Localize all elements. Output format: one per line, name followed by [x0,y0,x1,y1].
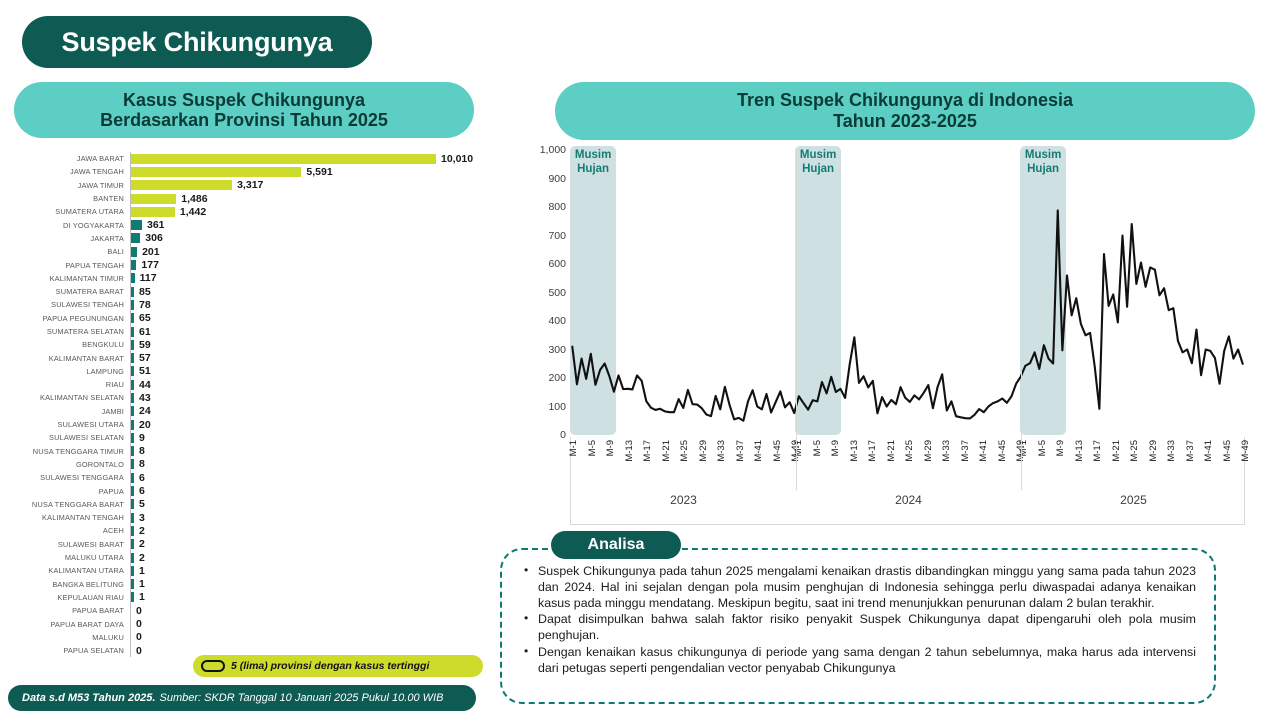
year-separator [796,150,797,490]
y-axis-tick-label: 500 [520,287,566,299]
y-axis-tick-label: 200 [520,372,566,384]
bar-category-label: SUMATERA BARAT [0,287,130,296]
bar-category-label: PAPUA PEGUNUNGAN [0,314,130,323]
bar-value-label: 0 [136,605,142,617]
x-axis-tick-label: M-33 [1166,440,1177,462]
x-axis: M-1M-5M-9M-13M-17M-21M-25M-29M-33M-37M-4… [570,437,1245,525]
bar-track: 51 [130,365,500,378]
bar-track: 6 [130,471,500,484]
bar-fill [131,207,175,217]
bar-row: NUSA TENGGARA BARAT5 [0,498,500,511]
bar-fill [131,433,134,443]
trend-chart-title-line1: Tren Suspek Chikungunya di Indonesia [737,90,1073,111]
bar-value-label: 6 [139,485,145,497]
bar-fill [131,486,134,496]
trend-chart-title-line2: Tahun 2023-2025 [833,111,977,132]
bar-fill [131,233,140,243]
bar-row: SULAWESI BARAT2 [0,538,500,551]
bar-row: SUMATERA BARAT85 [0,285,500,298]
bar-row: SULAWESI TENGGARA6 [0,471,500,484]
bar-category-label: RIAU [0,380,130,389]
bar-category-label: KALIMANTAN TENGAH [0,513,130,522]
bar-fill [131,154,436,164]
x-axis-tick-label: M-5 [1037,440,1048,456]
y-axis-tick-label: 400 [520,315,566,327]
bar-category-label: PAPUA TENGAH [0,261,130,270]
bar-category-label: JAWA TIMUR [0,181,130,190]
bar-value-label: 5,591 [306,166,332,178]
bar-value-label: 2 [139,525,145,537]
bar-track: 306 [130,232,500,245]
x-axis-tick-label: M-33 [716,440,727,462]
bar-category-label: KEPULAUAN RIAU [0,593,130,602]
bar-value-label: 43 [139,392,151,404]
bar-category-label: BANGKA BELITUNG [0,580,130,589]
bar-category-label: NUSA TENGGARA BARAT [0,500,130,509]
bar-category-label: PAPUA [0,487,130,496]
legend-swatch-icon [201,660,225,672]
bar-fill [131,247,137,257]
bar-row: ACEH2 [0,524,500,537]
bar-track: 57 [130,351,500,364]
bar-track: 65 [130,312,500,325]
bar-value-label: 306 [145,232,163,244]
bar-track: 2 [130,524,500,537]
dashboard-page: Suspek Chikungunya Kasus Suspek Chikungu… [0,0,1280,720]
bar-track: 9 [130,431,500,444]
x-axis-tick-label: M-41 [978,440,989,462]
bar-row: GORONTALO8 [0,458,500,471]
y-axis-tick-label: 800 [520,201,566,213]
x-axis-tick-label: M-13 [624,440,635,462]
bar-value-label: 5 [139,498,145,510]
bar-value-label: 1 [139,565,145,577]
bar-track: 177 [130,258,500,271]
x-axis-tick-label: M-37 [1185,440,1196,462]
bar-chart-title: Kasus Suspek Chikungunya Berdasarkan Pro… [14,82,474,138]
x-axis-tick-label: M-41 [1203,440,1214,462]
bar-category-label: PAPUA BARAT DAYA [0,620,130,629]
bar-value-label: 1,442 [180,206,206,218]
bar-category-label: KALIMANTAN UTARA [0,566,130,575]
x-axis-tick-label: M-25 [679,440,690,462]
x-axis-tick-label: M-17 [642,440,653,462]
bar-value-label: 6 [139,472,145,484]
x-axis-tick-label: M-33 [941,440,952,462]
bar-row: PAPUA BARAT0 [0,604,500,617]
page-title-text: Suspek Chikungunya [62,27,333,58]
y-axis-tick-label: 900 [520,173,566,185]
x-axis-tick-label: M-49 [1240,440,1251,462]
bar-track: 8 [130,458,500,471]
x-axis-tick-label: M-21 [661,440,672,462]
bar-category-label: BANTEN [0,194,130,203]
bar-value-label: 9 [139,432,145,444]
bar-track: 8 [130,445,500,458]
bar-track: 78 [130,298,500,311]
bar-category-label: JAKARTA [0,234,130,243]
bar-category-label: LAMPUNG [0,367,130,376]
bar-row: KALIMANTAN UTARA1 [0,564,500,577]
province-bar-panel: Kasus Suspek Chikungunya Berdasarkan Pro… [0,82,500,662]
bar-row: KALIMANTAN TENGAH3 [0,511,500,524]
bar-fill [131,499,134,509]
y-axis-tick-label: 1,000 [520,144,566,156]
x-axis-tick-label: M-21 [1111,440,1122,462]
bar-fill [131,420,134,430]
bar-row: BANTEN1,486 [0,192,500,205]
bar-fill [131,313,134,323]
bar-category-label: JAWA TENGAH [0,167,130,176]
x-axis-tick-label: M-17 [867,440,878,462]
x-axis-year-label: 2025 [1021,493,1246,507]
trend-chart-title: Tren Suspek Chikungunya di Indonesia Tah… [555,82,1255,140]
bar-fill [131,287,134,297]
bar-value-label: 85 [139,286,151,298]
bar-category-label: JAWA BARAT [0,154,130,163]
analysis-list: Suspek Chikungunya pada tahun 2025 menga… [520,564,1196,676]
bar-row: JAWA BARAT10,010 [0,152,500,165]
bar-value-label: 2 [139,538,145,550]
bar-track: 361 [130,218,500,231]
bar-row: SUMATERA UTARA1,442 [0,205,500,218]
bar-track: 1,442 [130,205,500,218]
bar-row: SULAWESI UTARA20 [0,418,500,431]
bar-fill [131,553,134,563]
analysis-label-text: Analisa [588,536,645,554]
bar-track: 59 [130,338,500,351]
bar-fill [131,513,134,523]
bar-track: 20 [130,418,500,431]
analysis-bullet: Dapat disimpulkan bahwa salah faktor ris… [538,612,1196,644]
line-chart-plot-area: MusimHujanMusimHujanMusimHujan [570,150,1245,435]
x-axis-tick-label: M-13 [849,440,860,462]
bar-fill [131,194,176,204]
bar-chart-legend: 5 (lima) provinsi dengan kasus tertinggi [193,655,483,677]
bar-category-label: MALUKU [0,633,130,642]
bar-track: 3,317 [130,179,500,192]
bar-category-label: KALIMANTAN SELATAN [0,393,130,402]
bar-fill [131,592,134,602]
x-axis-tick-label: M-37 [735,440,746,462]
trend-line-series [570,150,1245,435]
bar-category-label: SUMATERA SELATAN [0,327,130,336]
bar-track: 1 [130,578,500,591]
bar-chart-title-line2: Berdasarkan Provinsi Tahun 2025 [100,110,388,130]
bar-value-label: 201 [142,246,160,258]
bar-value-label: 1 [139,578,145,590]
bar-track: 85 [130,285,500,298]
bar-track: 5 [130,498,500,511]
bar-value-label: 61 [139,326,151,338]
x-axis-tick-label: M-13 [1074,440,1085,462]
bar-category-label: SULAWESI UTARA [0,420,130,429]
bar-track: 3 [130,511,500,524]
bar-row: KALIMANTAN BARAT57 [0,351,500,364]
x-axis-tick-label: M-45 [772,440,783,462]
bar-row: KALIMANTAN SELATAN43 [0,391,500,404]
bar-fill [131,473,134,483]
analysis-label-pill: Analisa [551,531,681,559]
legend-label: 5 (lima) provinsi dengan kasus tertinggi [231,660,429,672]
weekly-trend-line-chart: 1,0009008007006005004003002001000MusimHu… [520,145,1280,525]
footer-data-period: Data s.d M53 Tahun 2025. [22,692,155,704]
bar-fill [131,180,232,190]
bar-fill [131,446,134,456]
year-separator [1021,150,1022,490]
bar-fill [131,300,134,310]
bar-category-label: BENGKULU [0,340,130,349]
bar-track: 1 [130,564,500,577]
bar-row: BENGKULU59 [0,338,500,351]
bar-track: 0 [130,617,500,630]
bar-category-label: SULAWESI BARAT [0,540,130,549]
bar-fill [131,327,134,337]
province-bar-chart: JAWA BARAT10,010JAWA TENGAH5,591JAWA TIM… [0,152,500,662]
bar-fill [131,220,142,230]
bar-value-label: 20 [139,419,151,431]
bar-category-label: GORONTALO [0,460,130,469]
bar-value-label: 0 [136,631,142,643]
bar-fill [131,340,134,350]
bar-fill [131,579,134,589]
bar-value-label: 8 [139,445,145,457]
y-axis-tick-label: 300 [520,344,566,356]
x-axis-tick-label: M-45 [997,440,1008,462]
bar-value-label: 2 [139,552,145,564]
x-axis-tick-label: M-37 [960,440,971,462]
bar-row: BALI201 [0,245,500,258]
analysis-box: Suspek Chikungunya pada tahun 2025 menga… [500,548,1216,704]
bar-fill [131,260,136,270]
bar-fill [131,380,134,390]
bar-value-label: 117 [140,272,157,284]
bar-category-label: NUSA TENGGARA TIMUR [0,447,130,456]
x-axis-tick-label: M-29 [698,440,709,462]
bar-value-label: 177 [141,259,159,271]
x-axis-tick-label: M-25 [904,440,915,462]
bar-track: 5,591 [130,165,500,178]
bar-fill [131,406,134,416]
x-axis-tick-label: M-9 [1055,440,1066,456]
y-axis-tick-label: 0 [520,429,566,441]
bar-value-label: 59 [139,339,151,351]
y-axis-tick-label: 100 [520,401,566,413]
bar-track: 0 [130,631,500,644]
analysis-bullet: Dengan kenaikan kasus chikungunya di per… [538,645,1196,677]
analysis-bullet: Suspek Chikungunya pada tahun 2025 menga… [538,564,1196,611]
bar-chart-title-line1: Kasus Suspek Chikungunya [123,90,365,110]
bar-category-label: MALUKU UTARA [0,553,130,562]
x-axis-tick-label: M-1 [1018,440,1029,456]
bar-track: 2 [130,551,500,564]
bar-category-label: JAMBI [0,407,130,416]
bar-row: PAPUA TENGAH177 [0,258,500,271]
x-axis-tick-label: M-25 [1129,440,1140,462]
bar-fill [131,459,134,469]
x-axis-tick-label: M-9 [605,440,616,456]
bar-category-label: SULAWESI SELATAN [0,433,130,442]
bar-category-label: BALI [0,247,130,256]
bar-category-label: ACEH [0,526,130,535]
bar-value-label: 3 [139,512,145,524]
bar-track: 0 [130,604,500,617]
bar-category-label: KALIMANTAN TIMUR [0,274,130,283]
bar-value-label: 24 [139,405,151,417]
bar-row: MALUKU UTARA2 [0,551,500,564]
bar-track: 6 [130,484,500,497]
x-axis-tick-label: M-41 [753,440,764,462]
bar-value-label: 44 [139,379,151,391]
bar-fill [131,539,134,549]
bar-fill [131,566,134,576]
x-axis-tick-label: M-5 [812,440,823,456]
bar-track: 201 [130,245,500,258]
bar-row: PAPUA PEGUNUNGAN65 [0,312,500,325]
bar-fill [131,366,134,376]
x-axis-year-label: 2023 [571,493,796,507]
x-axis-tick-label: M-1 [793,440,804,456]
bar-row: NUSA TENGGARA TIMUR8 [0,445,500,458]
bar-row: SULAWESI TENGAH78 [0,298,500,311]
bar-value-label: 57 [139,352,151,364]
bar-row: KALIMANTAN TIMUR117 [0,272,500,285]
bar-fill [131,273,135,283]
bar-row: PAPUA6 [0,484,500,497]
x-axis-tick-label: M-17 [1092,440,1103,462]
bar-row: JAWA TENGAH5,591 [0,165,500,178]
bar-track: 2 [130,538,500,551]
bar-row: BANGKA BELITUNG1 [0,578,500,591]
bar-row: RIAU44 [0,378,500,391]
y-axis-tick-label: 600 [520,258,566,270]
bar-fill [131,393,134,403]
bar-value-label: 10,010 [441,153,473,165]
bar-category-label: KALIMANTAN BARAT [0,354,130,363]
bar-value-label: 65 [139,312,151,324]
y-axis-tick-label: 700 [520,230,566,242]
bar-value-label: 0 [136,645,142,657]
bar-row: PAPUA BARAT DAYA0 [0,617,500,630]
bar-track: 10,010 [130,152,500,165]
bar-row: SUMATERA SELATAN61 [0,325,500,338]
footer-source: Sumber: SKDR Tanggal 10 Januari 2025 Puk… [159,692,443,704]
x-axis-tick-label: M-1 [568,440,579,456]
bar-value-label: 8 [139,458,145,470]
bar-value-label: 78 [139,299,151,311]
x-axis-tick-label: M-5 [587,440,598,456]
bar-value-label: 1 [139,591,145,603]
bar-fill [131,167,301,177]
bar-category-label: SUMATERA UTARA [0,207,130,216]
bar-track: 24 [130,405,500,418]
bar-category-label: PAPUA SELATAN [0,646,130,655]
x-axis-tick-label: M-9 [830,440,841,456]
bar-row: MALUKU0 [0,631,500,644]
bar-row: LAMPUNG51 [0,365,500,378]
bar-row: KEPULAUAN RIAU1 [0,591,500,604]
x-axis-tick-label: M-29 [923,440,934,462]
bar-category-label: PAPUA BARAT [0,606,130,615]
bar-track: 1 [130,591,500,604]
bar-row: JAMBI24 [0,405,500,418]
source-footer: Data s.d M53 Tahun 2025. Sumber: SKDR Ta… [8,685,476,711]
bar-fill [131,353,134,363]
bar-track: 43 [130,391,500,404]
bar-category-label: SULAWESI TENGAH [0,300,130,309]
bar-value-label: 51 [139,365,151,377]
bar-row: JAKARTA306 [0,232,500,245]
bar-category-label: SULAWESI TENGGARA [0,473,130,482]
bar-value-label: 3,317 [237,179,263,191]
x-axis-tick-label: M-21 [886,440,897,462]
bar-track: 44 [130,378,500,391]
bar-category-label: DI YOGYAKARTA [0,221,130,230]
page-title: Suspek Chikungunya [22,16,372,68]
x-axis-year-label: 2024 [796,493,1021,507]
bar-track: 1,486 [130,192,500,205]
bar-value-label: 361 [147,219,165,231]
bar-row: DI YOGYAKARTA361 [0,218,500,231]
bar-track: 61 [130,325,500,338]
bar-fill [131,526,134,536]
bar-track: 117 [130,272,500,285]
x-axis-tick-label: M-29 [1148,440,1159,462]
bar-row: SULAWESI SELATAN9 [0,431,500,444]
bar-row: JAWA TIMUR3,317 [0,179,500,192]
x-axis-tick-label: M-45 [1222,440,1233,462]
bar-value-label: 1,486 [181,193,207,205]
bar-value-label: 0 [136,618,142,630]
